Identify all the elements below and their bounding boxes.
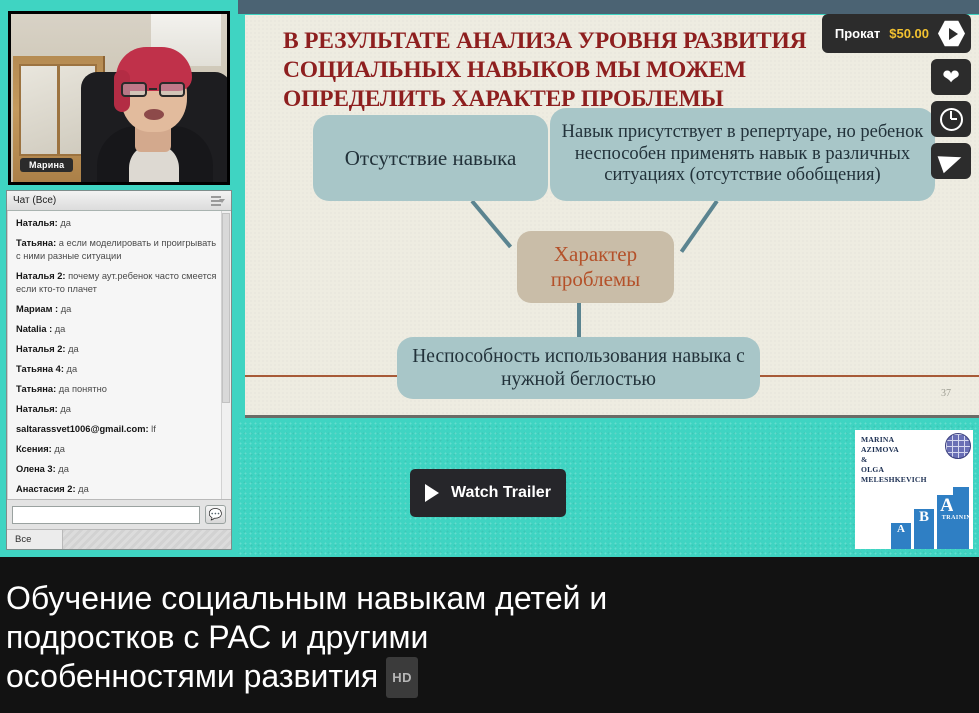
connector-left [470, 200, 512, 249]
chat-message-author: Татьяна 4: [16, 364, 64, 374]
chat-scrollbar[interactable] [221, 211, 231, 499]
connector-right [680, 200, 719, 253]
chat-message-author: Natalia : [16, 324, 52, 334]
chat-message: Наталья: да [16, 403, 223, 416]
diagram-node-absence-of-skill: Отсутствие навыка [313, 115, 548, 201]
chat-message-text: да [64, 364, 77, 374]
rent-overlay-label: Прокат [835, 26, 880, 41]
chat-message: Наталья 2: почему аут.ребенок часто смее… [16, 270, 223, 296]
chat-message-text: lf [149, 424, 156, 434]
chat-message-text: да [52, 444, 65, 454]
watch-later-button[interactable] [931, 101, 971, 137]
chat-input[interactable] [12, 506, 200, 524]
chat-title: Чат (Все) [13, 195, 56, 206]
diagram-node-fluency: Неспособность использования навыка с нуж… [397, 337, 760, 399]
video-player[interactable]: Марина Чат (Все) Наталья: даТатьяна: а е… [0, 0, 979, 557]
video-page: Марина Чат (Все) Наталья: даТатьяна: а е… [0, 0, 979, 713]
globe-icon [945, 433, 971, 459]
chat-message-author: Мариам : [16, 304, 58, 314]
chat-message-text: да [52, 324, 65, 334]
chat-message: saltarassvet1006@gmail.com: lf [16, 423, 223, 436]
chat-message-author: Наталья 2: [16, 271, 66, 281]
chat-message: Олена 3: да [16, 463, 223, 476]
watch-trailer-button[interactable]: Watch Trailer [410, 469, 566, 517]
rent-overlay-amount: $50.00 [889, 26, 929, 41]
chat-message: Наталья: да [16, 217, 223, 230]
chat-scroll-thumb[interactable] [222, 213, 230, 403]
logo-bar-b: B [914, 509, 934, 549]
logo-side-text: TRAININGS [953, 487, 969, 549]
chat-message: Natalia : да [16, 323, 223, 336]
connector-bottom [577, 301, 581, 341]
slide-number: 37 [941, 388, 951, 399]
chat-input-row[interactable]: 💬 [7, 499, 231, 529]
chat-tab-bar[interactable]: Все [7, 529, 231, 549]
heart-icon: ❤ [942, 67, 960, 88]
paper-plane-icon [938, 149, 965, 173]
chat-message-author: saltarassvet1006@gmail.com: [16, 424, 149, 434]
video-title-text: Обучение социальным навыкам детей и подр… [6, 580, 607, 694]
chat-message: Ксения: да [16, 443, 223, 456]
rent-overlay-button[interactable]: Прокат $50.00 [822, 14, 971, 53]
chat-message-author: Анастасия 2: [16, 484, 76, 494]
hamburger-menu-icon[interactable] [211, 196, 225, 206]
player-action-rail[interactable]: Прокат $50.00 ❤ [822, 14, 971, 185]
player-lower-strip: Watch Trailer MARINA AZIMOVA & OLGA MELE… [238, 421, 979, 557]
presentation-top-bar [238, 0, 979, 14]
diagram-node-problem-character: Характер проблемы [517, 231, 674, 303]
chat-message-author: Наталья: [16, 404, 58, 414]
logo-bar-chart: A B A [891, 495, 957, 549]
glasses-icon [121, 82, 185, 97]
chat-message-author: Татьяна: [16, 384, 56, 394]
slide-title: В РЕЗУЛЬТАТЕ АНАЛИЗА УРОВНЯ РАЗВИТИЯ СОЦ… [283, 27, 903, 114]
like-button[interactable]: ❤ [931, 59, 971, 95]
play-triangle-icon [425, 484, 439, 502]
chat-message-author: Татьяна: [16, 238, 56, 248]
webcam-person-mouth [144, 109, 164, 120]
chat-message-text: да понятно [56, 384, 107, 394]
chat-message: Татьяна: а если моделировать и проигрыва… [16, 237, 223, 263]
chat-message: Анастасия 2: да [16, 483, 223, 496]
watch-trailer-label: Watch Trailer [451, 484, 551, 502]
play-hexagon-icon[interactable] [938, 20, 965, 47]
webcam-scene [11, 14, 227, 182]
chat-panel[interactable]: Чат (Все) Наталья: даТатьяна: а если мод… [6, 190, 232, 550]
page-title: Обучение социальным навыкам детей и подр… [6, 579, 656, 698]
chat-message-text: да [58, 304, 71, 314]
webinar-left-column: Марина Чат (Все) Наталья: даТатьяна: а е… [0, 0, 238, 557]
speech-bubble-icon[interactable]: 💬 [205, 505, 226, 524]
chat-message-text: да [56, 464, 69, 474]
chat-message-text: да [58, 404, 71, 414]
chat-message: Татьяна 4: да [16, 363, 223, 376]
chat-message: Татьяна: да понятно [16, 383, 223, 396]
chat-tab-all[interactable]: Все [7, 530, 63, 549]
logo-line-1: MARINA [861, 435, 941, 445]
presenter-webcam: Марина [8, 11, 230, 185]
chat-message-list[interactable]: Наталья: даТатьяна: а если моделировать … [7, 211, 231, 499]
chat-message-text: да [58, 218, 71, 228]
hd-badge: HD [386, 657, 418, 698]
chat-message-author: Олена 3: [16, 464, 56, 474]
aba-trainings-logo: MARINA AZIMOVA & OLGA MELESHKEVICH A B A [855, 430, 973, 549]
chat-message-author: Наталья: [16, 218, 58, 228]
chat-message-text: да [66, 344, 79, 354]
logo-bar-a1: A [891, 523, 911, 549]
chat-message-author: Ксения: [16, 444, 52, 454]
chat-message: Наталья 2: да [16, 343, 223, 356]
chat-header: Чат (Все) [7, 191, 231, 211]
chat-message-text: да [76, 484, 89, 494]
video-meta-section: Обучение социальным навыкам детей и подр… [0, 557, 979, 713]
logo-line-2: AZIMOVA [861, 445, 941, 455]
clock-icon [940, 108, 963, 131]
participant-name-label: Марина [20, 158, 73, 172]
share-button[interactable] [931, 143, 971, 179]
chat-message-author: Наталья 2: [16, 344, 66, 354]
chat-message: Мариам : да [16, 303, 223, 316]
